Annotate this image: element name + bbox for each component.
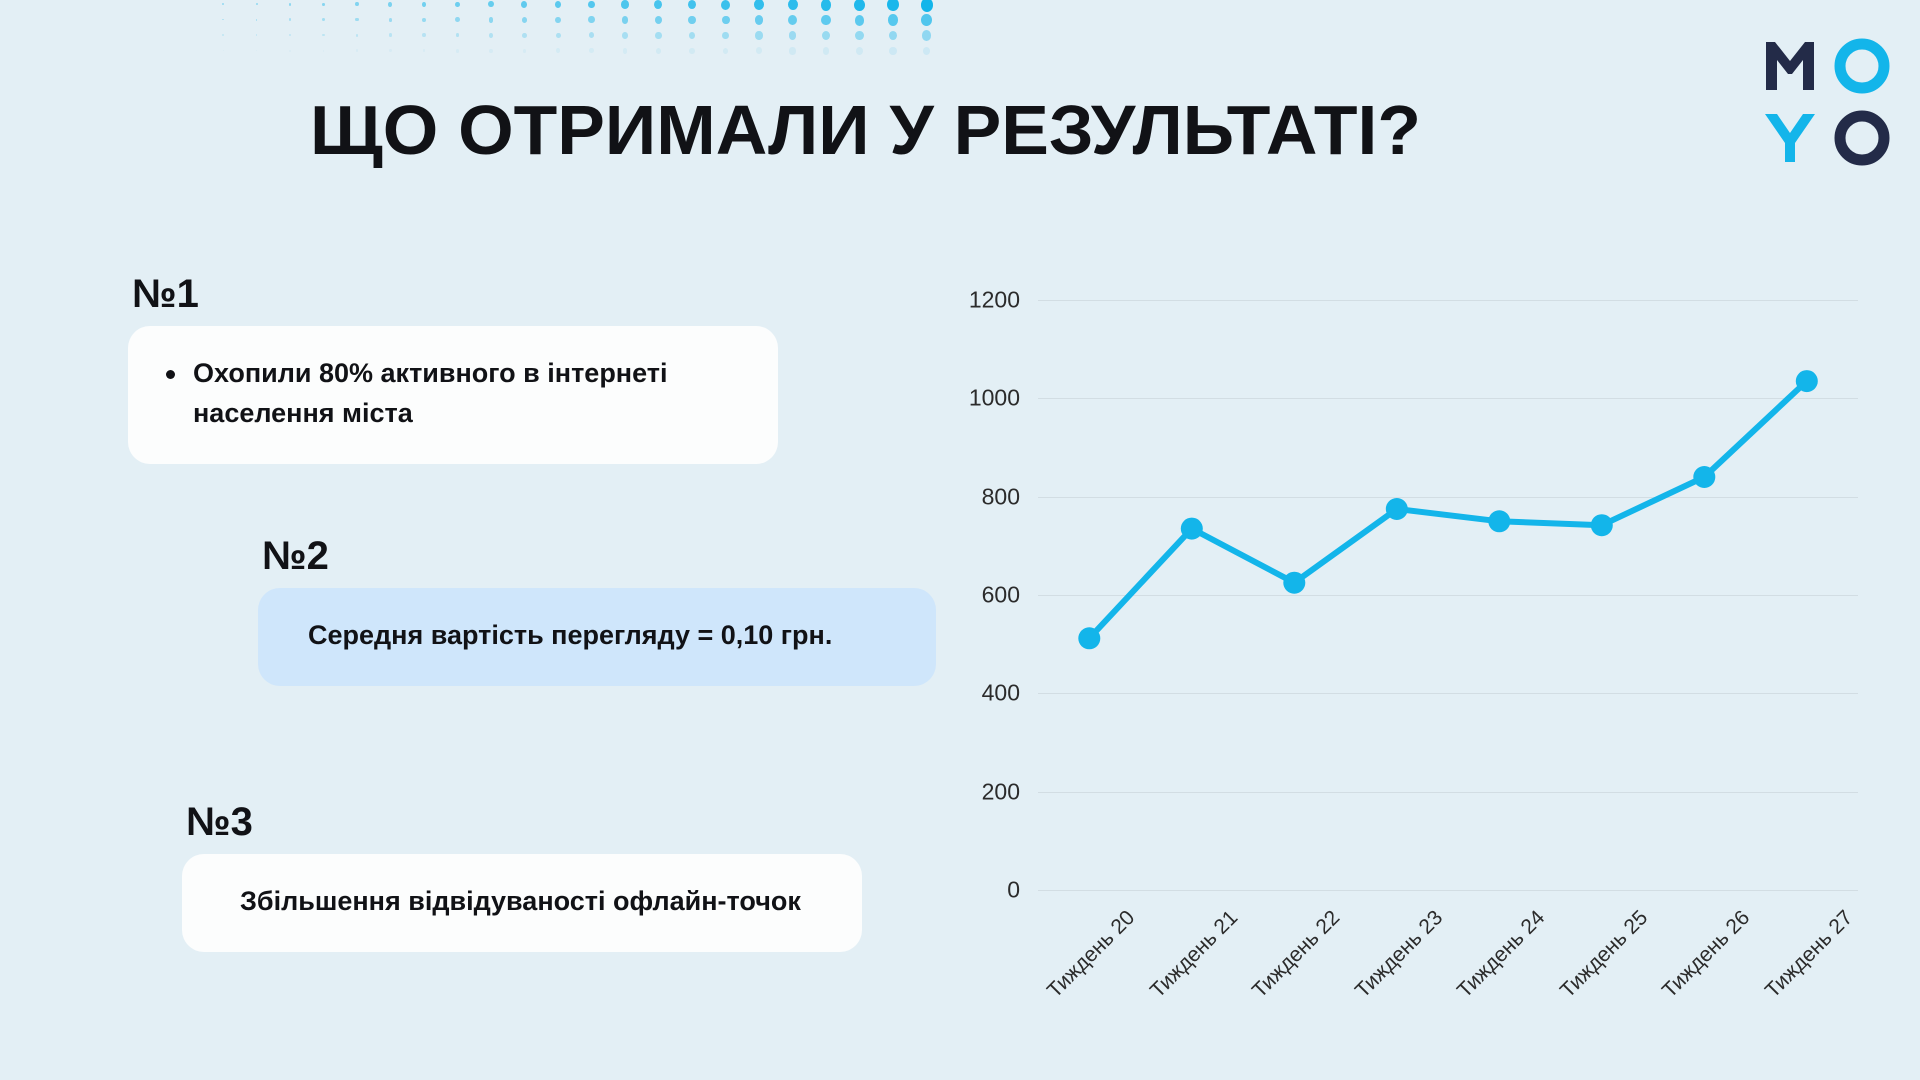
chart-y-tick-label: 1000 xyxy=(969,385,1020,412)
decorative-dot xyxy=(422,18,426,23)
chart-x-tick-label: Тиждень 20 xyxy=(1043,906,1140,1003)
decorative-dot xyxy=(754,0,764,10)
decorative-dot xyxy=(389,18,393,22)
decorative-dot xyxy=(222,19,223,21)
result-text-1: Охопили 80% активного в інтернеті населе… xyxy=(193,354,744,434)
chart-plot-area: 020040060080010001200 Тиждень 20Тиждень … xyxy=(1038,300,1858,890)
decorative-dot xyxy=(856,47,863,55)
decorative-dot xyxy=(488,1,494,7)
decorative-dot xyxy=(821,15,830,25)
decorative-dot xyxy=(356,49,358,52)
decorative-dot xyxy=(756,47,762,54)
decorative-dot xyxy=(655,16,662,24)
decorative-dot xyxy=(887,0,899,11)
decorative-dot xyxy=(722,32,729,40)
decorative-dot xyxy=(523,49,527,53)
decorative-dot xyxy=(289,34,291,36)
chart-x-tick-label: Тиждень 27 xyxy=(1761,906,1858,1003)
decorative-dot xyxy=(556,48,560,53)
decorative-dot xyxy=(789,31,797,40)
decorative-dot xyxy=(723,48,729,55)
logo-letter-m xyxy=(1762,38,1818,94)
decorative-dot xyxy=(222,3,224,5)
decorative-dot xyxy=(323,50,325,52)
decorative-dot xyxy=(822,31,830,40)
chart-data-point[interactable] xyxy=(1796,370,1818,392)
result-item-1: №1 Охопили 80% активного в інтернеті нас… xyxy=(128,274,788,464)
decorative-dot xyxy=(888,14,898,25)
chart-x-tick-label: Тиждень 25 xyxy=(1556,906,1653,1003)
result-text-3: Збільшення відвідуваності офлайн-точок xyxy=(240,886,801,916)
logo-letter-o-cyan xyxy=(1834,38,1890,94)
chart-data-point[interactable] xyxy=(1181,518,1203,540)
decorative-dot xyxy=(223,50,224,51)
logo-letter-o-dark xyxy=(1834,110,1890,166)
decorative-dot xyxy=(921,14,932,26)
decorative-dot xyxy=(755,15,763,24)
decorative-dot xyxy=(654,0,662,9)
decorative-dot xyxy=(689,48,695,54)
bullet-icon xyxy=(166,370,175,379)
decorative-dot xyxy=(922,30,931,40)
page-title: ЩО ОТРИМАЛИ У РЕЗУЛЬТАТІ? xyxy=(310,90,1421,170)
result-card-1: Охопили 80% активного в інтернеті населе… xyxy=(128,326,778,464)
decorative-dot xyxy=(721,0,730,10)
decorative-dot xyxy=(256,19,258,21)
decorative-dot xyxy=(689,32,696,39)
decorative-dot xyxy=(788,15,797,25)
decorative-dot xyxy=(622,32,628,38)
result-number-1: №1 xyxy=(132,274,788,314)
decorative-dot xyxy=(755,31,762,39)
decorative-dot xyxy=(722,16,730,25)
decorative-dot xyxy=(289,3,292,6)
chart-data-point[interactable] xyxy=(1283,572,1305,594)
decorative-dot xyxy=(489,17,494,23)
results-list: №1 Охопили 80% активного в інтернеті нас… xyxy=(0,260,980,1050)
decorative-dot xyxy=(555,1,562,8)
chart-x-tick-label: Тиждень 26 xyxy=(1658,906,1755,1003)
decorative-dot xyxy=(622,16,629,23)
decorative-dot xyxy=(222,34,223,35)
decorative-dot xyxy=(455,17,459,22)
decorative-dot xyxy=(389,49,392,52)
decorative-dot xyxy=(422,2,427,7)
decorative-dot xyxy=(789,47,795,54)
chart-x-tick-label: Тиждень 21 xyxy=(1146,906,1243,1003)
decorative-dot xyxy=(589,32,594,38)
decorative-dot xyxy=(289,50,291,52)
chart-y-tick-label: 200 xyxy=(982,778,1020,805)
decorative-dot xyxy=(389,33,392,36)
decorative-dot xyxy=(623,48,628,53)
decorative-dot xyxy=(456,49,459,53)
chart-series xyxy=(1038,300,1858,890)
decorative-dot xyxy=(688,0,697,9)
line-chart: 020040060080010001200 Тиждень 20Тиждень … xyxy=(960,270,1910,1030)
decorative-dot xyxy=(256,34,258,36)
decorative-dot xyxy=(655,32,661,39)
decorative-dot xyxy=(456,33,460,37)
decorative-dot xyxy=(821,0,832,11)
decorative-dot xyxy=(455,2,460,8)
result-text-2: Середня вартість перегляду = 0,10 грн. xyxy=(308,620,832,650)
chart-x-tick-label: Тиждень 23 xyxy=(1351,906,1448,1003)
result-item-3: №3 Збільшення відвідуваності офлайн-точо… xyxy=(182,802,872,952)
decorative-dot xyxy=(422,33,426,37)
chart-y-tick-label: 1200 xyxy=(969,287,1020,314)
chart-data-point[interactable] xyxy=(1386,498,1408,520)
chart-y-tick-label: 0 xyxy=(1007,877,1020,904)
decorative-dot xyxy=(556,33,561,39)
decorative-dot xyxy=(923,47,931,56)
logo-letter-y xyxy=(1762,110,1818,166)
chart-x-tick-label: Тиждень 22 xyxy=(1248,906,1345,1003)
decorative-dot xyxy=(522,17,527,23)
decorative-dot xyxy=(289,18,291,21)
chart-y-tick-label: 800 xyxy=(982,483,1020,510)
chart-data-point[interactable] xyxy=(1693,466,1715,488)
chart-data-point[interactable] xyxy=(1488,510,1510,532)
chart-y-tick-label: 600 xyxy=(982,582,1020,609)
decorative-dot xyxy=(855,15,865,26)
result-item-2: №2 Середня вартість перегляду = 0,10 грн… xyxy=(258,536,948,686)
decorative-dot xyxy=(621,0,629,9)
decorative-dot xyxy=(322,18,325,21)
decorative-dot-grid xyxy=(212,0,952,58)
decorative-dot xyxy=(521,1,527,8)
decorative-dot xyxy=(889,31,898,41)
decorative-dot xyxy=(322,34,324,37)
decorative-dot xyxy=(355,2,359,6)
decorative-dot xyxy=(588,1,595,9)
decorative-dot xyxy=(489,49,493,53)
result-card-3: Збільшення відвідуваності офлайн-точок xyxy=(182,854,862,952)
chart-y-tick-label: 400 xyxy=(982,680,1020,707)
chart-x-tick-label: Тиждень 24 xyxy=(1453,906,1550,1003)
decorative-dot xyxy=(256,50,257,52)
decorative-dot xyxy=(588,16,594,23)
chart-data-point[interactable] xyxy=(1591,514,1613,536)
decorative-dot xyxy=(256,3,258,5)
decorative-dot xyxy=(522,33,527,38)
decorative-dot xyxy=(355,18,358,22)
chart-gridline xyxy=(1038,890,1858,891)
result-number-3: №3 xyxy=(186,802,872,842)
chart-line xyxy=(1089,381,1807,638)
decorative-dot xyxy=(656,48,661,54)
decorative-dot xyxy=(555,17,561,24)
decorative-dot xyxy=(854,0,865,11)
moyo-logo xyxy=(1762,38,1890,166)
result-number-2: №2 xyxy=(262,536,948,576)
result-card-2: Середня вартість перегляду = 0,10 грн. xyxy=(258,588,936,686)
decorative-dot xyxy=(788,0,798,10)
decorative-dot xyxy=(855,31,863,40)
decorative-dot xyxy=(489,33,493,38)
slide-root: ЩО ОТРИМАЛИ У РЕЗУЛЬТАТІ? №1 Охопили 80%… xyxy=(0,0,1920,1080)
decorative-dot xyxy=(388,2,392,7)
decorative-dot xyxy=(688,16,696,24)
chart-data-point[interactable] xyxy=(1078,627,1100,649)
decorative-dot xyxy=(356,34,359,37)
decorative-dot xyxy=(889,47,896,55)
decorative-dot xyxy=(921,0,933,12)
decorative-dot xyxy=(423,49,426,52)
decorative-dot xyxy=(589,48,594,53)
decorative-dot xyxy=(823,47,830,55)
decorative-dot xyxy=(322,3,325,6)
